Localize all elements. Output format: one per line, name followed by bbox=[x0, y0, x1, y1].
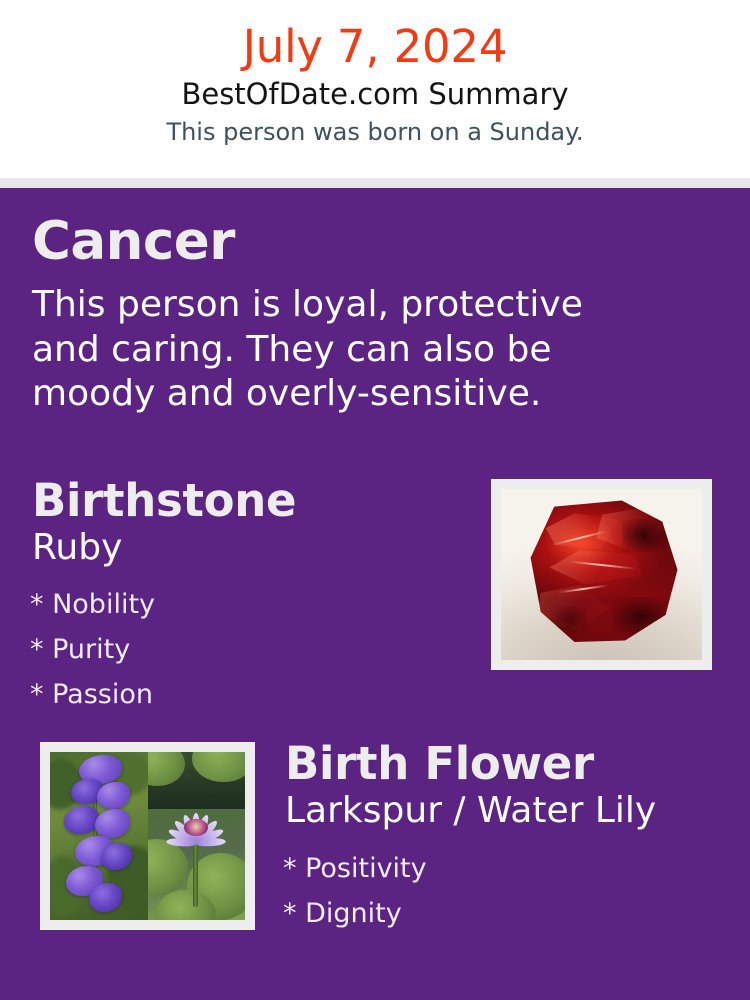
birthflower-image bbox=[50, 752, 245, 920]
list-item: * Dignity bbox=[283, 891, 427, 936]
list-item: * Passion bbox=[30, 672, 155, 717]
list-item: * Purity bbox=[30, 627, 155, 672]
birthstone-trait-list: * Nobility * Purity * Passion bbox=[30, 582, 155, 717]
zodiac-description: This person is loyal, protective and car… bbox=[32, 283, 652, 417]
birthstone-name: Ruby bbox=[32, 530, 122, 566]
birthflower-heading: Birth Flower bbox=[285, 741, 594, 786]
birthflower-name: Larkspur / Water Lily bbox=[285, 793, 656, 829]
born-day-note: This person was born on a Sunday. bbox=[0, 111, 750, 145]
birthstone-heading: Birthstone bbox=[32, 478, 296, 523]
birthflower-trait-list: * Positivity * Dignity bbox=[283, 846, 427, 936]
list-item: * Positivity bbox=[283, 846, 427, 891]
header-divider bbox=[0, 178, 750, 188]
list-item: * Nobility bbox=[30, 582, 155, 627]
zodiac-sign-title: Cancer bbox=[32, 215, 235, 268]
birthflower-image-frame bbox=[40, 742, 255, 930]
larkspur-photo-icon bbox=[50, 752, 148, 920]
birthstone-image-frame bbox=[491, 479, 712, 670]
summary-card: July 7, 2024 BestOfDate.com Summary This… bbox=[0, 0, 750, 1000]
birthstone-image bbox=[501, 489, 702, 660]
site-summary-label: BestOfDate.com Summary bbox=[0, 72, 750, 111]
water-lily-photo-icon bbox=[148, 752, 246, 920]
details-panel: Cancer This person is loyal, protective … bbox=[0, 188, 750, 1000]
page-header: July 7, 2024 BestOfDate.com Summary This… bbox=[0, 0, 750, 178]
page-title-date: July 7, 2024 bbox=[0, 0, 750, 72]
